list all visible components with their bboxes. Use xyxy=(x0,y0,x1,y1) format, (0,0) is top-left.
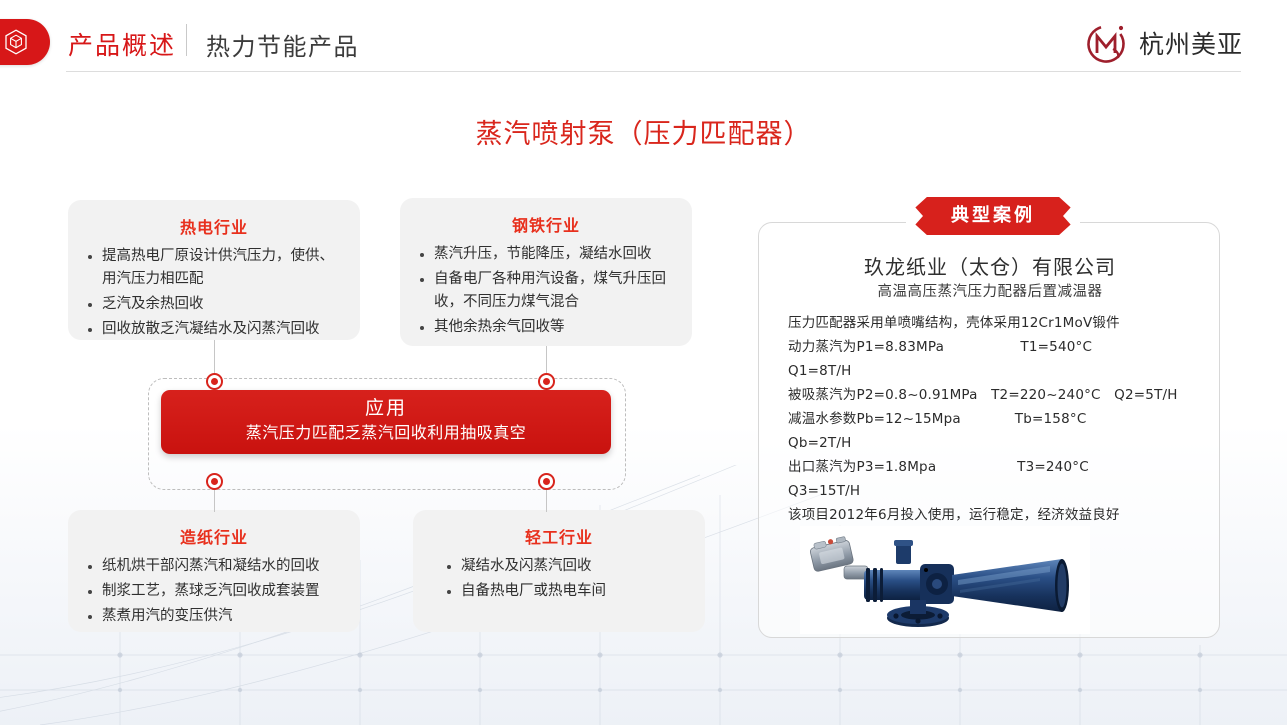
industry-card-light-industry[interactable]: 轻工行业 凝结水及闪蒸汽回收 自备热电厂或热电车间 xyxy=(413,510,705,632)
list-item: 纸机烘干部闪蒸汽和凝结水的回收 xyxy=(82,555,346,578)
application-subtitle: 蒸汽压力匹配乏蒸汽回收利用抽吸真空 xyxy=(161,421,611,445)
connector-line-top-right xyxy=(546,346,547,374)
node-dot-top-left xyxy=(206,373,223,390)
industry-card-steel[interactable]: 钢铁行业 蒸汽升压，节能降压，凝结水回收 自备电厂各种用汽设备，煤气升压回收，不… xyxy=(400,198,692,346)
slide-root: 产品概述 热力节能产品 杭州美亚 蒸汽喷射泵（压力匹配器） 热电行 xyxy=(0,0,1287,725)
case-subtitle: 高温高压蒸汽压力配器后置减温器 xyxy=(759,280,1221,301)
list-item: 自备电厂各种用汽设备，煤气升压回收，不同压力煤气混合 xyxy=(414,268,678,314)
application-center-box[interactable]: 应用 蒸汽压力匹配乏蒸汽回收利用抽吸真空 xyxy=(161,390,611,454)
cube-hexagon-icon xyxy=(4,29,28,55)
spec-line: 压力匹配器采用单喷嘴结构，壳体采用12Cr1MoV锻件 xyxy=(788,311,1208,335)
card-heading: 钢铁行业 xyxy=(414,212,678,236)
header-title-main: 产品概述 xyxy=(68,26,176,62)
card-heading: 轻工行业 xyxy=(427,524,691,548)
list-item: 乏汽及余热回收 xyxy=(82,293,346,316)
product-photo xyxy=(800,526,1090,634)
spec-line: 被吸蒸汽为P2=0.8~0.91MPa T2=220~240°C Q2=5T/H xyxy=(788,383,1208,407)
node-dot-bottom-left xyxy=(206,473,223,490)
banner-arrow-left-icon xyxy=(906,197,923,235)
spec-line: Qb=2T/H xyxy=(788,431,1208,455)
brand-logo: 杭州美亚 xyxy=(1084,20,1243,66)
list-item: 蒸煮用汽的变压供汽 xyxy=(82,605,346,628)
steam-ejector-pump-image xyxy=(800,526,1090,634)
application-diagram: 热电行业 提高热电厂原设计供汽压力，使供、用汽压力相匹配 乏汽及余热回收 回收放… xyxy=(0,0,740,725)
spec-line: Q3=15T/H xyxy=(788,479,1208,503)
industry-card-paper[interactable]: 造纸行业 纸机烘干部闪蒸汽和凝结水的回收 制浆工艺，蒸球乏汽回收成套装置 蒸煮用… xyxy=(68,510,360,632)
page-title: 蒸汽喷射泵（压力匹配器） xyxy=(0,112,1287,151)
case-study-panel: 玖龙纸业（太仓）有限公司 高温高压蒸汽压力配器后置减温器 压力匹配器采用单喷嘴结… xyxy=(758,222,1220,638)
case-banner-label: 典型案例 xyxy=(906,197,1080,235)
header-rule xyxy=(66,71,1241,72)
card-list: 凝结水及闪蒸汽回收 自备热电厂或热电车间 xyxy=(427,555,691,603)
header-title-divider xyxy=(186,24,187,56)
meiya-m-circle-logo-icon xyxy=(1084,20,1130,66)
card-list: 纸机烘干部闪蒸汽和凝结水的回收 制浆工艺，蒸球乏汽回收成套装置 蒸煮用汽的变压供… xyxy=(82,555,346,628)
list-item: 制浆工艺，蒸球乏汽回收成套装置 xyxy=(82,580,346,603)
list-item: 自备热电厂或热电车间 xyxy=(427,580,691,603)
spec-line: Q1=8T/H xyxy=(788,359,1208,383)
node-dot-top-right xyxy=(538,373,555,390)
brand-name: 杭州美亚 xyxy=(1139,25,1243,61)
node-dot-bottom-right xyxy=(538,473,555,490)
connector-line-top-left xyxy=(214,340,215,374)
connector-line-bottom-right xyxy=(546,490,547,512)
spec-line: 该项目2012年6月投入使用，运行稳定，经济效益良好 xyxy=(788,503,1208,527)
connector-line-bottom-left xyxy=(214,490,215,512)
page-header: 产品概述 热力节能产品 杭州美亚 xyxy=(0,0,1287,82)
industry-card-thermal-power[interactable]: 热电行业 提高热电厂原设计供汽压力，使供、用汽压力相匹配 乏汽及余热回收 回收放… xyxy=(68,200,360,340)
spec-line: 动力蒸汽为P1=8.83MPa T1=540°C xyxy=(788,335,1208,359)
header-title-sub: 热力节能产品 xyxy=(206,27,359,62)
spec-line: 出口蒸汽为P3=1.8Mpa T3=240°C xyxy=(788,455,1208,479)
list-item: 凝结水及闪蒸汽回收 xyxy=(427,555,691,578)
list-item: 蒸汽升压，节能降压，凝结水回收 xyxy=(414,243,678,266)
header-badge xyxy=(0,19,50,65)
card-list: 提高热电厂原设计供汽压力，使供、用汽压力相匹配 乏汽及余热回收 回收放散乏汽凝结… xyxy=(82,245,346,341)
application-title: 应用 xyxy=(161,395,611,421)
card-heading: 热电行业 xyxy=(82,214,346,238)
list-item: 提高热电厂原设计供汽压力，使供、用汽压力相匹配 xyxy=(82,245,346,291)
case-spec-list: 压力匹配器采用单喷嘴结构，壳体采用12Cr1MoV锻件 动力蒸汽为P1=8.83… xyxy=(788,311,1208,527)
case-company-name: 玖龙纸业（太仓）有限公司 xyxy=(759,251,1221,280)
spec-line: 减温水参数Pb=12~15Mpa Tb=158°C xyxy=(788,407,1208,431)
list-item: 回收放散乏汽凝结水及闪蒸汽回收 xyxy=(82,318,346,341)
banner-arrow-right-icon xyxy=(1063,197,1080,235)
card-heading: 造纸行业 xyxy=(82,524,346,548)
list-item: 其他余热余气回收等 xyxy=(414,316,678,339)
card-list: 蒸汽升压，节能降压，凝结水回收 自备电厂各种用汽设备，煤气升压回收，不同压力煤气… xyxy=(414,243,678,339)
